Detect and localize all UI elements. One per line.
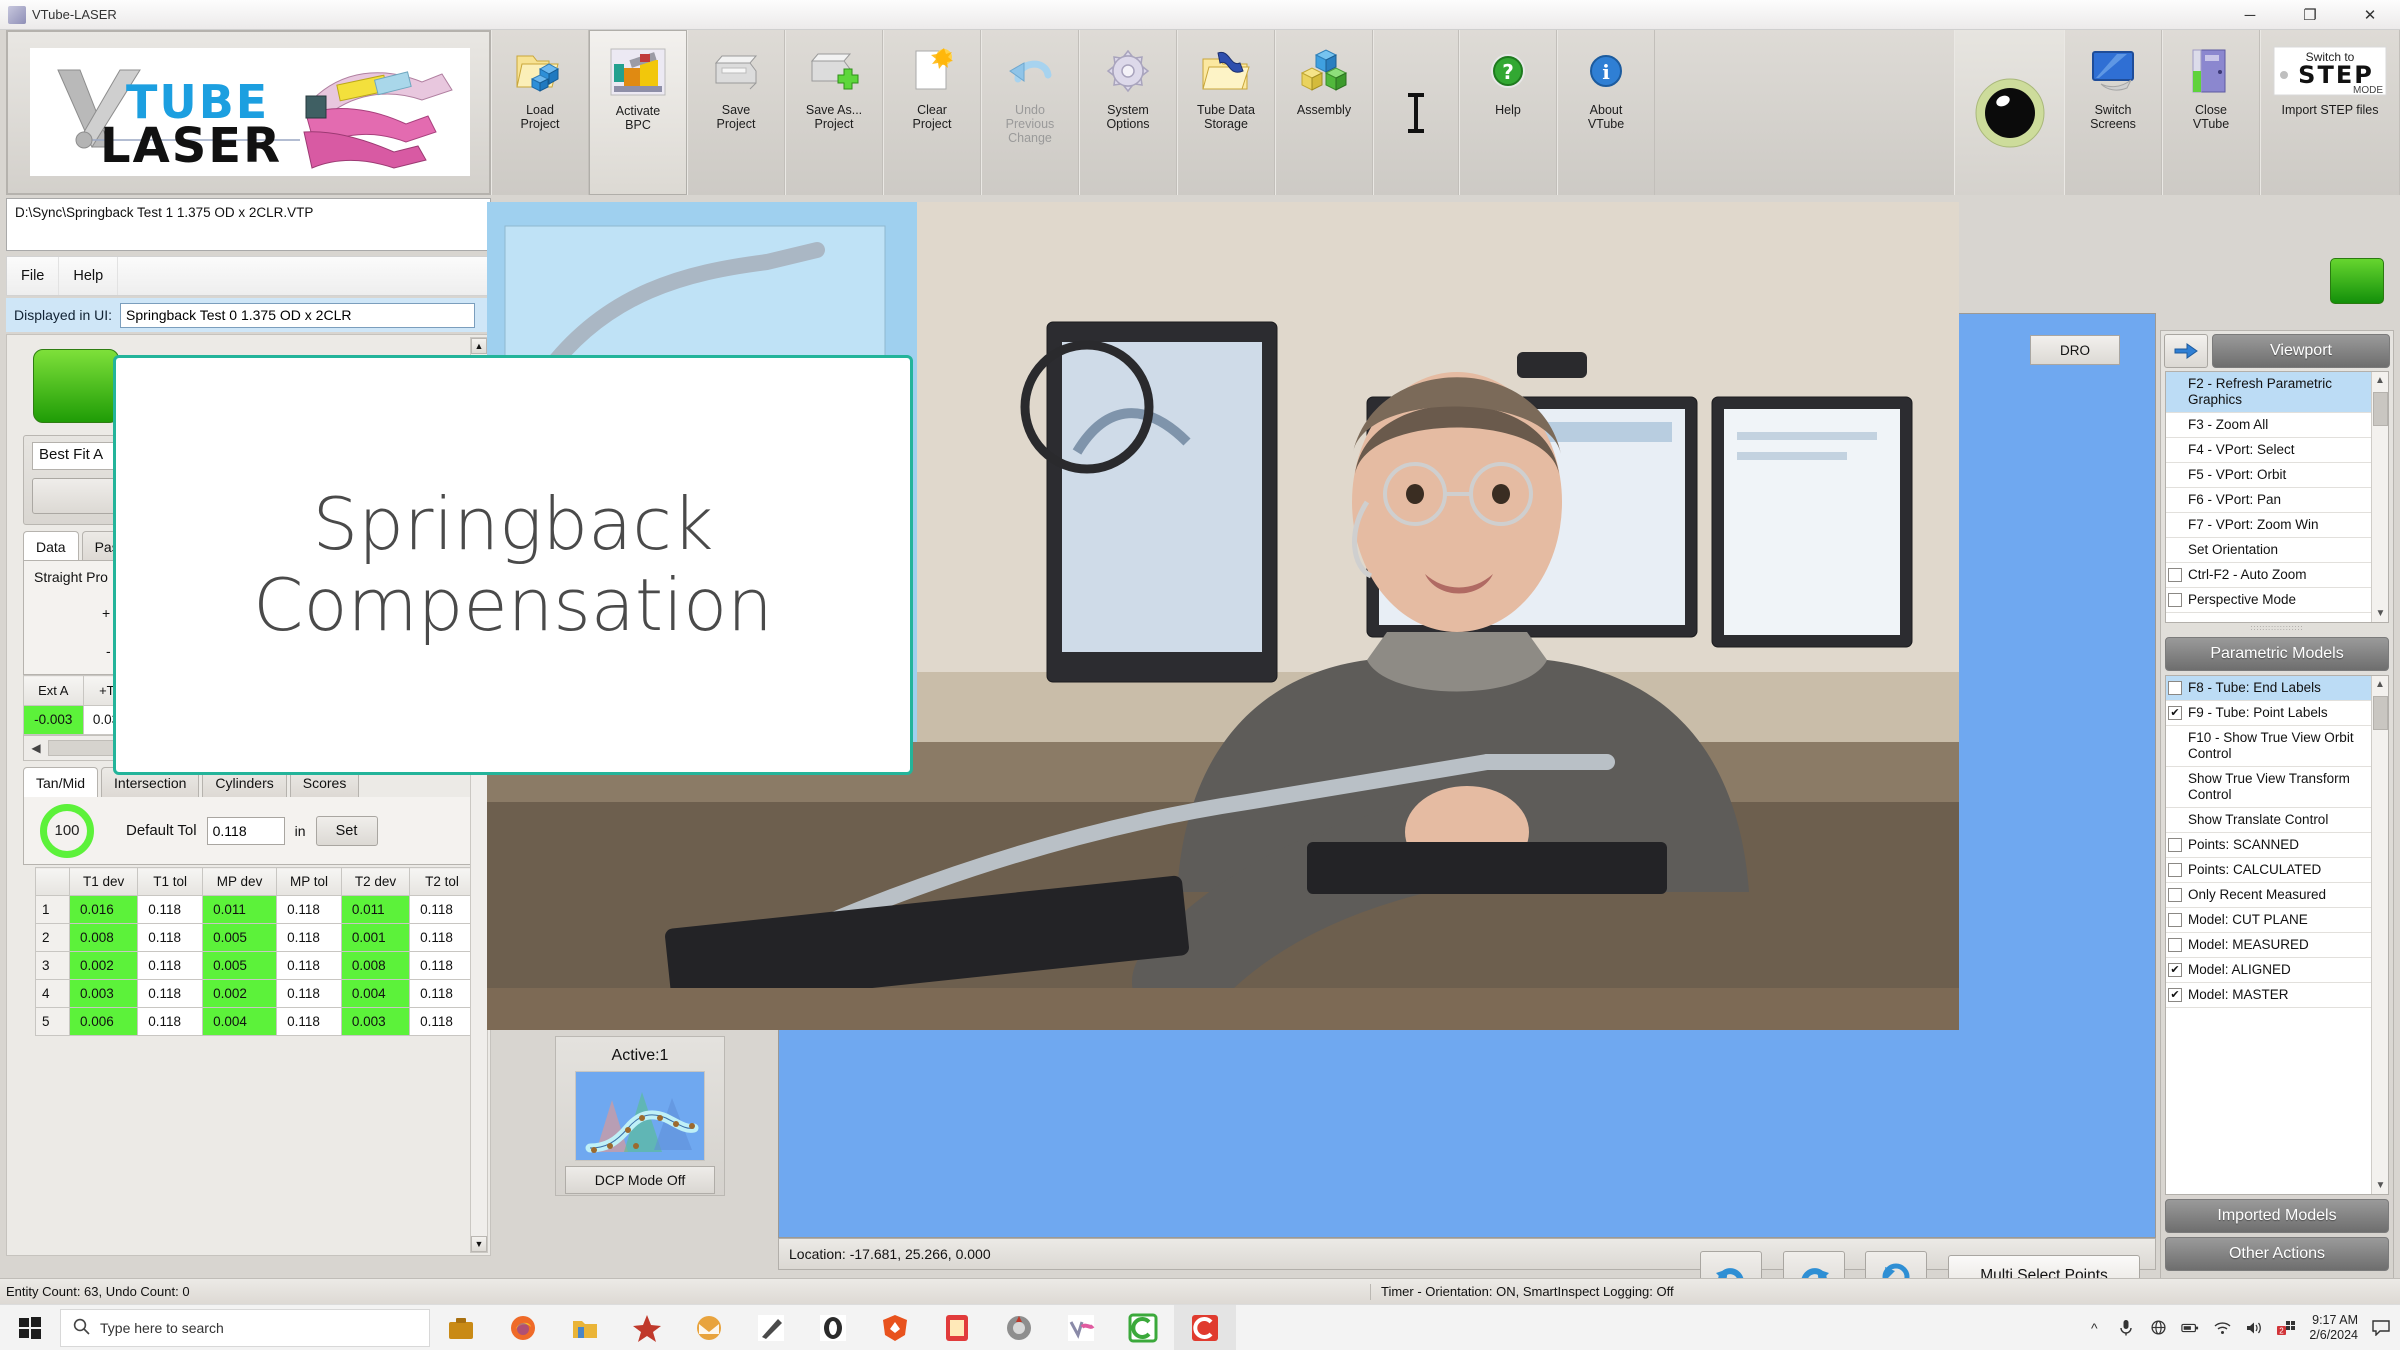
sidebar-item-model-aligned[interactable]: ✔ Model: ALIGNED — [2166, 958, 2388, 983]
ribbon-button-save-project[interactable]: SaveProject — [687, 30, 785, 195]
arrow-right-icon[interactable] — [2164, 334, 2208, 368]
ribbon-label: Help — [1495, 103, 1521, 117]
scroll-thumb[interactable] — [2373, 392, 2388, 426]
t1-tol-cell: 0.118 — [138, 1008, 203, 1036]
ribbon-button-undo-previous-change[interactable]: UndoPreviousChange — [981, 30, 1079, 195]
row-index: 4 — [36, 980, 70, 1008]
table-row[interactable]: 1 0.016 0.118 0.011 0.118 0.011 0.118 — [36, 896, 475, 924]
table-row[interactable]: 3 0.002 0.118 0.005 0.118 0.008 0.118 — [36, 952, 475, 980]
camtasia-app-icon — [1004, 1313, 1034, 1343]
active-model-box: Active:1 DCP Mode Off — [555, 1036, 725, 1196]
checkbox-unchecked[interactable] — [2168, 863, 2182, 877]
tolerance-row: 100 Default Tol in Set — [23, 797, 478, 865]
scroll-up-icon[interactable]: ▲ — [471, 338, 487, 354]
tol-unit-label: in — [295, 823, 306, 839]
gear-icon — [1097, 42, 1159, 100]
wifi-icon[interactable] — [2213, 1319, 2231, 1337]
exit-door-icon — [2180, 42, 2242, 100]
viewport-section-header: Viewport — [2161, 331, 2393, 371]
ribbon-spacer — [1655, 30, 1954, 195]
t1-tol-cell: 0.118 — [138, 924, 203, 952]
ribbon-label: ClearProject — [913, 103, 952, 131]
checkbox-checked[interactable]: ✔ — [2168, 988, 2182, 1002]
sidebar-item-label: F6 - VPort: Pan — [2188, 492, 2281, 508]
ribbon-label: UndoPreviousChange — [1006, 103, 1055, 145]
t2-tol-cell: 0.118 — [410, 1008, 475, 1036]
ribbon-label: Save As...Project — [806, 103, 862, 131]
sidebar-item-label: F8 - Tube: End Labels — [2188, 680, 2321, 696]
microphone-icon[interactable] — [2117, 1319, 2135, 1337]
sidebar-item-label: Ctrl-F2 - Auto Zoom — [2188, 567, 2307, 583]
maximize-button[interactable]: ❐ — [2280, 0, 2340, 30]
checkbox-unchecked[interactable] — [2168, 681, 2182, 695]
sidebar-item-f10-true-view-orbit[interactable]: F10 - Show True View Orbit Control — [2166, 726, 2388, 767]
logo-panel: TUBE LASER — [6, 30, 491, 195]
t2-dev-cell: 0.001 — [341, 924, 409, 952]
scroll-down-icon[interactable]: ▼ — [2372, 1177, 2389, 1194]
red-c-app-icon — [1190, 1313, 1220, 1343]
taskbar-app-thunderbird[interactable] — [678, 1305, 740, 1350]
sidebar-item-only-recent-measured[interactable]: Only Recent Measured — [2166, 883, 2388, 908]
search-placeholder-text: Type here to search — [100, 1320, 224, 1336]
ribbon-label: SwitchScreens — [2090, 103, 2136, 131]
mp-tol-cell: 0.118 — [277, 952, 342, 980]
scroll-down-icon[interactable]: ▼ — [2372, 605, 2389, 622]
sidebar-item-label: F7 - VPort: Zoom Win — [2188, 517, 2319, 533]
sidebar-item-label: Model: ALIGNED — [2188, 962, 2291, 978]
ribbon-button-import-step-files[interactable]: Switch to STEP MODE Import STEP files — [2260, 30, 2400, 195]
menu-item-file[interactable]: File — [7, 257, 59, 295]
sidebar-item-label: F9 - Tube: Point Labels — [2188, 705, 2328, 721]
logo-svg: TUBE LASER — [40, 52, 460, 172]
vtube-laser-logo: TUBE LASER — [30, 48, 470, 176]
t2-dev-cell: 0.003 — [341, 1008, 409, 1036]
table-row[interactable]: 5 0.006 0.118 0.004 0.118 0.003 0.118 — [36, 1008, 475, 1036]
taskbar-app-red-star[interactable] — [616, 1305, 678, 1350]
imported-models-section-title[interactable]: Imported Models — [2165, 1199, 2389, 1233]
search-input[interactable]: Type here to search — [60, 1309, 430, 1347]
tray-icons: ^ 2 — [2085, 1319, 2295, 1337]
save-as-project-icon — [803, 42, 865, 100]
volume-icon[interactable] — [2245, 1319, 2263, 1337]
active-model-label: Active:1 — [556, 1037, 724, 1065]
title-card-line2: Compensation — [253, 565, 773, 646]
save-project-icon — [705, 42, 767, 100]
green-c-app-icon — [1128, 1313, 1158, 1343]
col-t2-tol: T2 tol — [410, 868, 475, 896]
taskbar-app-notes[interactable] — [926, 1305, 988, 1350]
oval-app-icon — [818, 1313, 848, 1343]
load-project-icon — [509, 42, 571, 100]
ribbon-button-close-vtube[interactable]: CloseVTube — [2162, 30, 2260, 195]
application-status-bar: Entity Count: 63, Undo Count: 0 Timer - … — [0, 1278, 2400, 1304]
taskbar-app-pen[interactable] — [740, 1305, 802, 1350]
main-ribbon-toolbar: LoadProject ActivateBPC — [491, 30, 2400, 195]
tab-tan-mid[interactable]: Tan/Mid — [23, 767, 98, 797]
activate-bpc-icon — [607, 43, 669, 101]
svg-text:i: i — [1602, 60, 1610, 84]
scroll-down-icon[interactable]: ▼ — [471, 1236, 487, 1252]
row-index: 1 — [36, 896, 70, 924]
taskbar-app-green-c[interactable] — [1112, 1305, 1174, 1350]
ribbon-button-clear-project[interactable]: ClearProject — [883, 30, 981, 195]
clock-time: 9:17 AM — [2309, 1313, 2358, 1328]
ribbon-label: CloseVTube — [2193, 103, 2229, 131]
sidebar-item-show-translate-control[interactable]: Show Translate Control — [2166, 808, 2388, 833]
sidebar-item-points-calculated[interactable]: Points: CALCULATED — [2166, 858, 2388, 883]
text-cursor-icon — [1373, 30, 1459, 195]
sidebar-item-label: Only Recent Measured — [2188, 887, 2326, 903]
sidebar-item-f9-tube-point-labels[interactable]: ✔ F9 - Tube: Point Labels — [2166, 701, 2388, 726]
status-led-green — [33, 349, 119, 423]
t1-dev-cell: 0.008 — [70, 924, 138, 952]
location-readout: Location: -17.681, 25.266, 0.000 — [789, 1246, 991, 1262]
mp-tol-cell: 0.118 — [277, 896, 342, 924]
clear-project-icon — [901, 42, 963, 100]
taskbar-app-vtube[interactable] — [1050, 1305, 1112, 1350]
clock-date: 2/6/2024 — [2309, 1328, 2358, 1343]
ext-cell: -0.003 — [24, 705, 84, 735]
sidebar-item-label: Perspective Mode — [2188, 592, 2296, 608]
scroll-up-icon[interactable]: ▲ — [2372, 676, 2388, 693]
ribbon-label: SystemOptions — [1106, 103, 1149, 131]
windows-taskbar: Type here to search ^ — [0, 1304, 2400, 1350]
ribbon-button-system-options[interactable]: SystemOptions — [1079, 30, 1177, 195]
ribbon-label: Assembly — [1297, 103, 1351, 117]
taskbar-clock[interactable]: 9:17 AM 2/6/2024 — [2309, 1313, 2358, 1343]
sidebar-item-f3-zoom-all[interactable]: F3 - Zoom All — [2166, 413, 2388, 438]
displayed-in-ui-row: Displayed in UI: — [6, 298, 491, 332]
sidebar-item-f7-vport-zoom-win[interactable]: F7 - VPort: Zoom Win — [2166, 513, 2388, 538]
sidebar-item-model-master[interactable]: ✔ Model: MASTER — [2166, 983, 2388, 1008]
score-ring: 100 — [40, 804, 94, 858]
ribbon-label: Import STEP files — [2281, 103, 2378, 117]
sidebar-item-label: Model: MEASURED — [2188, 937, 2309, 953]
tube-data-storage-icon — [1195, 42, 1257, 100]
row-index: 5 — [36, 1008, 70, 1036]
t2-dev-cell: 0.004 — [341, 980, 409, 1008]
t2-tol-cell: 0.118 — [410, 980, 475, 1008]
sidebar-item-label: Model: CUT PLANE — [2188, 912, 2308, 928]
menu-item-help[interactable]: Help — [59, 257, 118, 295]
t1-dev-cell: 0.016 — [70, 896, 138, 924]
thunderbird-app-icon — [694, 1313, 724, 1343]
ribbon-button-tube-data-storage[interactable]: Tube DataStorage — [1177, 30, 1275, 195]
ribbon-button-load-project[interactable]: LoadProject — [491, 30, 589, 195]
window-titlebar: VTube-LASER ─ ❐ ✕ — [0, 0, 2400, 30]
monitor-icon — [2082, 42, 2144, 100]
ribbon-button-about-vtube[interactable]: i AboutVTube — [1557, 30, 1655, 195]
ribbon-label: LoadProject — [521, 103, 560, 131]
set-tolerance-button[interactable]: Set — [316, 816, 378, 846]
sidebar-item-label: Points: SCANNED — [2188, 837, 2299, 853]
col-ext-a: Ext A — [24, 676, 84, 706]
sidebar-item-f6-vport-pan[interactable]: F6 - VPort: Pan — [2166, 488, 2388, 513]
brave-app-icon — [880, 1313, 910, 1343]
taskbar-app-briefcase[interactable] — [430, 1305, 492, 1350]
sidebar-item-label: Model: MASTER — [2188, 987, 2289, 1003]
taskbar-app-explorer[interactable] — [554, 1305, 616, 1350]
t1-tol-cell: 0.118 — [138, 896, 203, 924]
sidebar-item-label: Show Translate Control — [2188, 812, 2328, 828]
briefcase-app-icon — [446, 1313, 476, 1343]
step-mode-icon: Switch to STEP MODE — [2272, 42, 2388, 100]
default-tol-input[interactable] — [207, 817, 285, 845]
col-t2-dev: T2 dev — [341, 868, 409, 896]
viewport-option-list[interactable]: ▲ ▼ F2 - Refresh Parametric Graphics F3 … — [2165, 371, 2389, 623]
red-star-app-icon — [632, 1313, 662, 1343]
close-button[interactable]: ✕ — [2340, 0, 2400, 30]
sidebar-item-set-orientation[interactable]: Set Orientation — [2166, 538, 2388, 563]
dro-button[interactable]: DRO — [2030, 335, 2120, 365]
table-row[interactable]: 2 0.008 0.118 0.005 0.118 0.001 0.118 — [36, 924, 475, 952]
checkbox-unchecked[interactable] — [2168, 888, 2182, 902]
checkbox-unchecked[interactable] — [2168, 593, 2182, 607]
scroll-thumb[interactable] — [2373, 696, 2388, 730]
t1-dev-cell: 0.003 — [70, 980, 138, 1008]
displayed-in-ui-input[interactable] — [120, 303, 475, 328]
sidebar-item-label: F4 - VPort: Select — [2188, 442, 2295, 458]
taskbar-app-camtasia[interactable] — [988, 1305, 1050, 1350]
chevron-up-icon[interactable]: ^ — [2085, 1319, 2103, 1337]
mp-tol-cell: 0.118 — [277, 924, 342, 952]
assembly-icon — [1293, 42, 1355, 100]
sidebar-item-f4-vport-select[interactable]: F4 - VPort: Select — [2166, 438, 2388, 463]
displayed-in-ui-label: Displayed in UI: — [14, 307, 112, 323]
sidebar-item-ctrl-f2-auto-zoom[interactable]: Ctrl-F2 - Auto Zoom — [2166, 563, 2388, 588]
app-icon — [8, 6, 26, 24]
sidebar-item-model-cut-plane[interactable]: Model: CUT PLANE — [2166, 908, 2388, 933]
active-model-thumbnail[interactable] — [575, 1071, 705, 1161]
taskbar-app-red-c[interactable] — [1174, 1305, 1236, 1350]
taskbar-app-brave[interactable] — [864, 1305, 926, 1350]
network-share-icon[interactable] — [2149, 1319, 2167, 1337]
t2-tol-cell: 0.118 — [410, 952, 475, 980]
ribbon-button-save-as-project[interactable]: Save As...Project — [785, 30, 883, 195]
ribbon-button-assembly[interactable]: Assembly — [1275, 30, 1373, 195]
title-card-line1: Springback — [253, 484, 773, 565]
t1-dev-cell: 0.002 — [70, 952, 138, 980]
taskbar-app-oval[interactable] — [802, 1305, 864, 1350]
sidebar-item-label: Set Orientation — [2188, 542, 2278, 558]
explorer-app-icon — [570, 1313, 600, 1343]
battery-icon[interactable] — [2181, 1319, 2199, 1337]
right-sidebar: Viewport ▲ ▼ F2 - Refresh Parametric Gra… — [2160, 330, 2394, 1288]
vtube-app-icon — [1066, 1313, 1096, 1343]
sidebar-item-label: Points: CALCULATED — [2188, 862, 2321, 878]
scroll-left-icon[interactable]: ◀ — [24, 741, 48, 755]
row-index: 2 — [36, 924, 70, 952]
straight-props-label: Straight Pro — [34, 569, 108, 585]
svg-text:2: 2 — [2280, 1326, 2285, 1335]
title-card-text: Springback Compensation — [253, 484, 773, 645]
t1-dev-cell: 0.006 — [70, 1008, 138, 1036]
sidebar-item-label: F3 - Zoom All — [2188, 417, 2268, 433]
mp-tol-cell: 0.118 — [277, 1008, 342, 1036]
tab-data[interactable]: Data — [23, 531, 79, 561]
checkbox-unchecked[interactable] — [2168, 838, 2182, 852]
svg-text:LASER: LASER — [100, 118, 282, 172]
windows-start-icon[interactable] — [0, 1305, 60, 1350]
row-index: 3 — [36, 952, 70, 980]
t2-tol-cell: 0.118 — [410, 896, 475, 924]
undo-icon — [999, 42, 1061, 100]
checkbox-unchecked[interactable] — [2168, 938, 2182, 952]
sidebar-item-true-view-transform[interactable]: Show True View Transform Control — [2166, 767, 2388, 808]
about-icon: i — [1575, 42, 1637, 100]
col-mp-tol: MP tol — [277, 868, 342, 896]
checkbox-checked[interactable]: ✔ — [2168, 706, 2182, 720]
mp-dev-cell: 0.002 — [203, 980, 277, 1008]
sidebar-item-label: F5 - VPort: Orbit — [2188, 467, 2286, 483]
sidebar-item-label: F2 - Refresh Parametric Graphics — [2188, 376, 2368, 408]
t2-dev-cell: 0.008 — [341, 952, 409, 980]
left-menubar: File Help — [6, 256, 491, 296]
firefox-app-icon — [508, 1313, 538, 1343]
ribbon-button-activate-bpc[interactable]: ActivateBPC — [589, 30, 687, 195]
t2-dev-cell: 0.011 — [341, 896, 409, 924]
col-t1-tol: T1 tol — [138, 868, 203, 896]
mp-dev-cell: 0.011 — [203, 896, 277, 924]
default-tol-label: Default Tol — [126, 822, 197, 839]
sidebar-item-f2-refresh[interactable]: F2 - Refresh Parametric Graphics — [2166, 372, 2388, 413]
notification-badge-icon[interactable]: 2 — [2277, 1319, 2295, 1337]
table-header-row: T1 dev T1 tol MP dev MP tol T2 dev T2 to… — [36, 868, 475, 896]
other-actions-section-title[interactable]: Other Actions — [2165, 1237, 2389, 1271]
parametric-list-scrollbar[interactable]: ▲ ▼ — [2371, 676, 2388, 1194]
sidebar-item-f8-tube-end-labels[interactable]: F8 - Tube: End Labels — [2166, 676, 2388, 701]
eye-indicator[interactable] — [1954, 30, 2064, 195]
checkbox-unchecked[interactable] — [2168, 568, 2182, 582]
deviation-table: T1 dev T1 tol MP dev MP tol T2 dev T2 to… — [35, 867, 475, 1036]
ribbon-label: ActivateBPC — [616, 104, 660, 132]
minimize-button[interactable]: ─ — [2220, 0, 2280, 30]
ribbon-button-switch-screens[interactable]: SwitchScreens — [2064, 30, 2162, 195]
viewport-list-scrollbar[interactable]: ▲ ▼ — [2371, 372, 2388, 622]
search-icon — [73, 1318, 90, 1338]
col-rowindex — [36, 868, 70, 896]
col-mp-dev: MP dev — [203, 868, 277, 896]
parametric-models-section-title[interactable]: Parametric Models — [2165, 637, 2389, 671]
system-tray: ^ 2 9:17 AM 2/6/2024 — [2085, 1313, 2400, 1343]
ribbon-label: Tube DataStorage — [1197, 103, 1255, 131]
title-card-overlay: Springback Compensation — [113, 355, 913, 775]
sidebar-item-perspective-mode[interactable]: Perspective Mode — [2166, 588, 2388, 613]
window-buttons: ─ ❐ ✕ — [2220, 0, 2400, 30]
checkbox-unchecked[interactable] — [2168, 913, 2182, 927]
t2-tol-cell: 0.118 — [410, 924, 475, 952]
svg-text:MODE: MODE — [2353, 85, 2383, 96]
sidebar-item-points-scanned[interactable]: Points: SCANNED — [2166, 833, 2388, 858]
window-title: VTube-LASER — [32, 7, 117, 22]
col-t1-dev: T1 dev — [70, 868, 138, 896]
sidebar-item-label: F10 - Show True View Orbit Control — [2188, 730, 2368, 762]
ribbon-button-help[interactable]: ? Help — [1459, 30, 1557, 195]
entity-count-status: Entity Count: 63, Undo Count: 0 — [0, 1284, 1370, 1299]
table-row[interactable]: 4 0.003 0.118 0.002 0.118 0.004 0.118 — [36, 980, 475, 1008]
sidebar-item-label: Show True View Transform Control — [2188, 771, 2368, 803]
taskbar-app-firefox[interactable] — [492, 1305, 554, 1350]
t1-tol-cell: 0.118 — [138, 980, 203, 1008]
ribbon-label: SaveProject — [717, 103, 756, 131]
ribbon-label: AboutVTube — [1588, 103, 1624, 131]
project-path-display: D:\Sync\Springback Test 1 1.375 OD x 2CL… — [6, 198, 491, 251]
right-status-led-green — [2330, 258, 2384, 304]
panel-resize-grip[interactable]: :::::::::::::::::: — [2161, 623, 2393, 633]
mp-dev-cell: 0.005 — [203, 952, 277, 980]
dcp-mode-button[interactable]: DCP Mode Off — [565, 1166, 715, 1194]
viewport-section-title[interactable]: Viewport — [2212, 334, 2390, 368]
svg-text:?: ? — [1502, 60, 1514, 84]
parametric-models-option-list[interactable]: ▲ ▼ F8 - Tube: End Labels ✔ F9 - Tube: P… — [2165, 675, 2389, 1195]
mp-dev-cell: 0.004 — [203, 1008, 277, 1036]
timer-status: Timer - Orientation: ON, SmartInspect Lo… — [1371, 1284, 1674, 1299]
action-center-icon[interactable] — [2372, 1319, 2390, 1337]
checkbox-checked[interactable]: ✔ — [2168, 963, 2182, 977]
help-icon: ? — [1477, 42, 1539, 100]
scroll-up-icon[interactable]: ▲ — [2372, 372, 2388, 389]
notes-app-icon — [942, 1313, 972, 1343]
sidebar-item-model-measured[interactable]: Model: MEASURED — [2166, 933, 2388, 958]
mp-tol-cell: 0.118 — [277, 980, 342, 1008]
t1-tol-cell: 0.118 — [138, 952, 203, 980]
application-root: TUBE LASER — [0, 30, 2400, 1316]
sidebar-item-f5-vport-orbit[interactable]: F5 - VPort: Orbit — [2166, 463, 2388, 488]
mp-dev-cell: 0.005 — [203, 924, 277, 952]
pen-app-icon — [756, 1313, 786, 1343]
